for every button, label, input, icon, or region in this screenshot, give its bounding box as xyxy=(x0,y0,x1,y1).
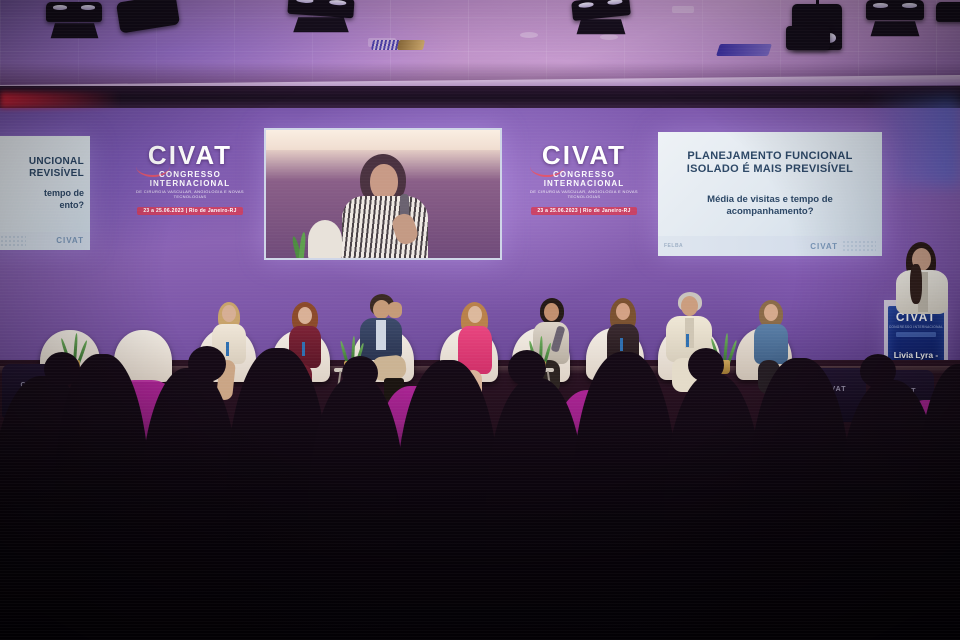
podium-speaker-name-line1: Livia Lyra - xyxy=(894,350,939,360)
panelist-6-head xyxy=(616,303,630,320)
side-table-1 xyxy=(334,368,368,406)
stage-light-4 xyxy=(572,0,630,24)
panelist-7-head xyxy=(681,296,698,316)
stage-light-7 xyxy=(936,0,960,28)
blue-light-accent xyxy=(870,96,960,186)
panelist-7-legs xyxy=(672,358,708,392)
chair-1b xyxy=(114,330,172,382)
slide-left-dot-pattern xyxy=(0,235,26,247)
slide-footer-dot-pattern xyxy=(842,240,876,252)
panelist-2-lanyard xyxy=(302,342,305,356)
panelist-6-lanyard xyxy=(620,338,623,351)
podium-brand-subtitle: CONGRESSO INTERNACIONAL xyxy=(889,325,943,329)
ceiling-panel-amber xyxy=(397,40,425,50)
panelist-7-lanyard xyxy=(686,334,689,347)
civat-tagline-1-right: CONGRESSO INTERNACIONAL xyxy=(528,170,640,188)
civat-datebar-right: 23 a 25.06.2023 | Rio de Janeiro-RJ xyxy=(531,207,636,215)
panelist-8 xyxy=(748,300,794,396)
slide-footer-sponsor: FELBA xyxy=(664,243,683,249)
civat-datebar-left: 23 a 25.06.2023 | Rio de Janeiro-RJ xyxy=(137,207,242,215)
stage-light-8 xyxy=(786,18,830,58)
panelist-1 xyxy=(206,302,252,402)
panelist-4-dress xyxy=(458,326,492,374)
panelist-6-legs xyxy=(610,362,632,398)
panelist-4-head xyxy=(468,306,482,323)
conference-photo-scene: UNCIONAL REVISÍVEL tempo de ento? CIVAT … xyxy=(0,0,960,640)
civat-tagline-2-left: DE CIRURGIA VASCULAR, ANGIOLOGIA E NOVAS… xyxy=(134,189,246,199)
panelist-3-hand xyxy=(388,302,402,318)
panelist-8-head xyxy=(764,304,778,321)
video-screen-frame xyxy=(264,128,502,260)
slide-left-sub-2: ento? xyxy=(60,200,85,211)
stage-light-1 xyxy=(46,0,102,28)
ceiling-panel-blue xyxy=(716,44,772,56)
slide-left-footer-brand: CIVAT xyxy=(56,236,84,245)
podium-accent-bar xyxy=(896,332,935,337)
slide-left-sub-1: tempo de xyxy=(44,188,84,199)
panelist-6-outfit xyxy=(607,324,639,366)
soffit-shadow xyxy=(0,86,960,108)
panelist-3-shirt xyxy=(376,320,386,350)
slide-main-sub-2: acompanhamento? xyxy=(726,206,813,218)
panelist-5-head xyxy=(544,303,559,321)
panelist-2 xyxy=(282,302,328,402)
slide-left-heading-2: REVISÍVEL xyxy=(29,168,84,180)
slide-left-heading-1: UNCIONAL xyxy=(29,156,84,168)
center-video-screen xyxy=(264,128,502,260)
podium-speaker-hair-strand xyxy=(910,264,922,304)
side-table-2 xyxy=(522,368,554,402)
panelist-1-outfit xyxy=(212,324,246,364)
slide-main-body: PLANEJAMENTO FUNCIONAL ISOLADO É MAIS PR… xyxy=(658,132,882,236)
civat-logo-right: CIVAT CONGRESSO INTERNACIONAL DE CIRURGI… xyxy=(528,142,640,217)
panelist-6 xyxy=(600,298,646,400)
slide-left-footer: CIVAT xyxy=(0,232,90,250)
ceiling-fixture-dot-2 xyxy=(600,34,618,40)
ceiling-vent-2 xyxy=(672,6,694,13)
civat-tagline-2-right: DE CIRURGIA VASCULAR, ANGIOLOGIA E NOVAS… xyxy=(528,189,640,199)
stage-plant-4 xyxy=(712,338,734,374)
panelist-1-lanyard xyxy=(226,342,229,356)
panelist-8-legs xyxy=(758,360,780,394)
red-light-accent xyxy=(0,92,120,108)
panelist-4 xyxy=(452,302,498,408)
panelist-1-head xyxy=(222,305,236,322)
stage-plant-1 xyxy=(62,338,84,374)
audience-darkness-gradient xyxy=(0,420,960,640)
slide-main-sub-1: Média de visitas e tempo de xyxy=(707,194,833,206)
ceiling-fixture-dot-1 xyxy=(520,32,538,38)
panelist-1-legs xyxy=(216,359,236,400)
slide-main-footer: FELBA CIVAT xyxy=(658,236,882,256)
panelist-2-outfit xyxy=(289,326,321,368)
panelist-4-shoe xyxy=(462,402,476,408)
slide-main-heading-1: PLANEJAMENTO FUNCIONAL xyxy=(687,150,852,163)
panelist-8-outfit xyxy=(754,324,788,364)
stage-light-6 xyxy=(866,0,924,26)
panelist-2-head xyxy=(298,307,312,324)
slide-screen-left: UNCIONAL REVISÍVEL tempo de ento? CIVAT xyxy=(0,136,90,250)
slide-footer-brand: CIVAT xyxy=(810,242,838,251)
slide-left-body: UNCIONAL REVISÍVEL tempo de ento? xyxy=(0,136,90,232)
podium-speaker xyxy=(892,242,954,312)
civat-logo-left: CIVAT CONGRESSO INTERNACIONAL DE CIRURGI… xyxy=(134,142,246,217)
panelist-4-legs xyxy=(464,370,482,404)
civat-tagline-1-left: CONGRESSO INTERNACIONAL xyxy=(134,170,246,188)
slide-screen-main: PLANEJAMENTO FUNCIONAL ISOLADO É MAIS PR… xyxy=(658,132,882,256)
stage-light-3 xyxy=(288,0,354,22)
stage-light-2 xyxy=(118,0,178,42)
panelist-2-legs xyxy=(292,364,312,402)
panelist-3-shoe xyxy=(384,378,404,400)
slide-main-heading-2: ISOLADO É MAIS PREVISÍVEL xyxy=(687,163,853,176)
